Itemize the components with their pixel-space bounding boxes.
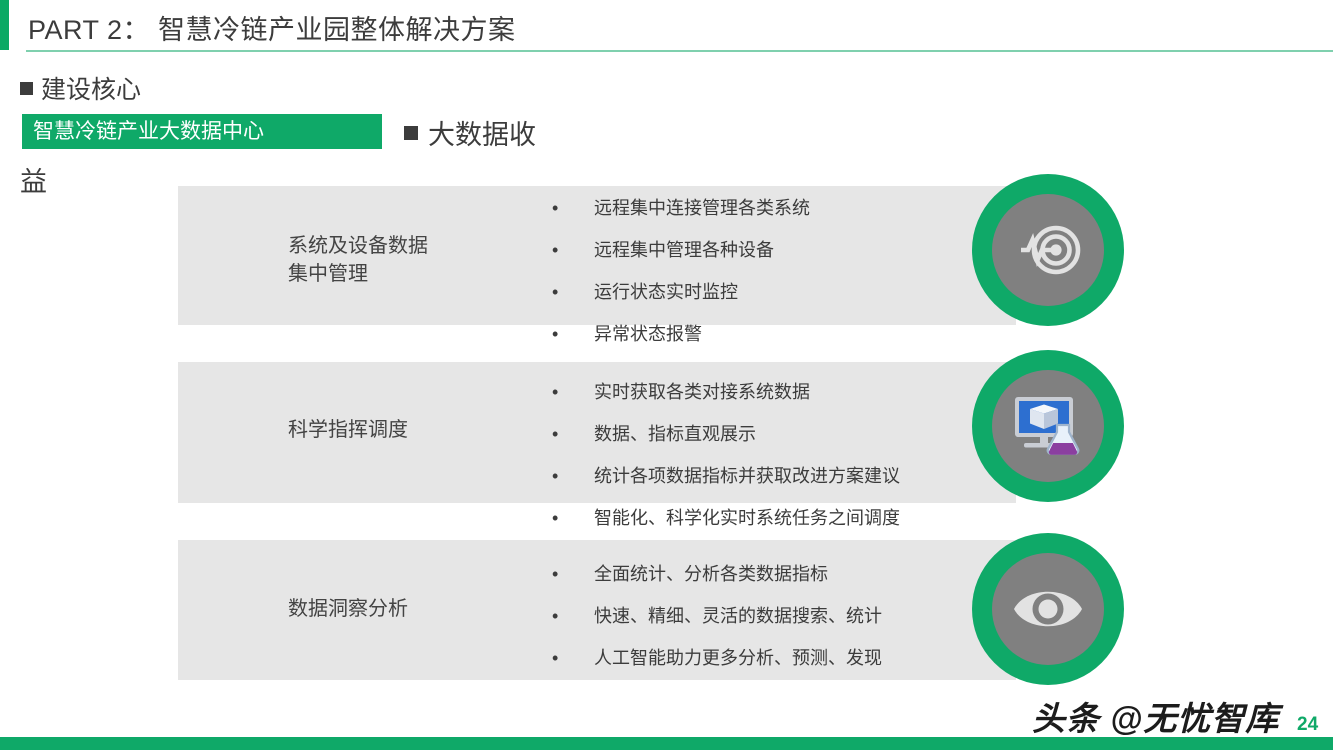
big-data-center-label: 智慧冷链产业大数据中心 xyxy=(22,114,382,149)
list-item: 远程集中连接管理各类系统 xyxy=(550,195,1020,222)
row-icon-badge xyxy=(972,533,1124,685)
header-divider xyxy=(26,50,1333,52)
monitor-cube-flask-icon xyxy=(1007,385,1089,467)
row-icon-inner xyxy=(992,370,1104,482)
footer-bar xyxy=(0,737,1333,750)
row-icon-inner xyxy=(992,553,1104,665)
list-item: 统计各项数据指标并获取改进方案建议 xyxy=(550,463,1020,490)
row-bullet-list: 实时获取各类对接系统数据 数据、指标直观展示 统计各项数据指标并获取改进方案建议… xyxy=(550,379,1020,547)
content-row: 系统及设备数据 集中管理 远程集中连接管理各类系统 远程集中管理各种设备 运行状… xyxy=(178,186,1016,325)
filled-square-bullet-icon xyxy=(404,126,418,140)
target-pulse-icon xyxy=(1008,210,1088,290)
row-icon-badge xyxy=(972,174,1124,326)
row-icon-badge xyxy=(972,350,1124,502)
slide-canvas: PART 2： 智慧冷链产业园整体解决方案 建设核心 智慧冷链产业大数据中心 大… xyxy=(0,0,1333,750)
core-section-heading-label: 建设核心 xyxy=(41,76,141,104)
list-item: 智能化、科学化实时系统任务之间调度 xyxy=(550,505,1020,532)
benefit-section-heading-label: 大数据收 xyxy=(428,120,536,150)
list-item: 快速、精细、灵活的数据搜索、统计 xyxy=(550,603,1020,630)
filled-square-bullet-icon xyxy=(20,82,33,95)
content-row: 数据洞察分析 全面统计、分析各类数据指标 快速、精细、灵活的数据搜索、统计 人工… xyxy=(178,540,1016,680)
row-bullet-list: 全面统计、分析各类数据指标 快速、精细、灵活的数据搜索、统计 人工智能助力更多分… xyxy=(550,561,1020,687)
list-item: 数据、指标直观展示 xyxy=(550,421,1020,448)
row-bullet-list: 远程集中连接管理各类系统 远程集中管理各种设备 运行状态实时监控 异常状态报警 xyxy=(550,195,1020,363)
list-item: 人工智能助力更多分析、预测、发现 xyxy=(550,645,1020,672)
eye-icon xyxy=(1008,569,1088,649)
benefit-section-heading: 大数据收 xyxy=(404,113,536,152)
list-item: 运行状态实时监控 xyxy=(550,279,1020,306)
header-accent-bar xyxy=(0,0,9,50)
benefit-section-heading-overflow: 益 xyxy=(20,160,47,199)
list-item: 实时获取各类对接系统数据 xyxy=(550,379,1020,406)
watermark: 头条 @无忧智库 xyxy=(1032,692,1279,740)
row-icon-inner xyxy=(992,194,1104,306)
core-section-heading: 建设核心 xyxy=(20,70,141,106)
page-number: 24 xyxy=(1297,714,1318,736)
list-item: 异常状态报警 xyxy=(550,321,1020,348)
list-item: 全面统计、分析各类数据指标 xyxy=(550,561,1020,588)
page-title: PART 2： 智慧冷链产业园整体解决方案 xyxy=(28,8,516,47)
list-item: 远程集中管理各种设备 xyxy=(550,237,1020,264)
content-row: 科学指挥调度 实时获取各类对接系统数据 数据、指标直观展示 统计各项数据指标并获… xyxy=(178,362,1016,503)
